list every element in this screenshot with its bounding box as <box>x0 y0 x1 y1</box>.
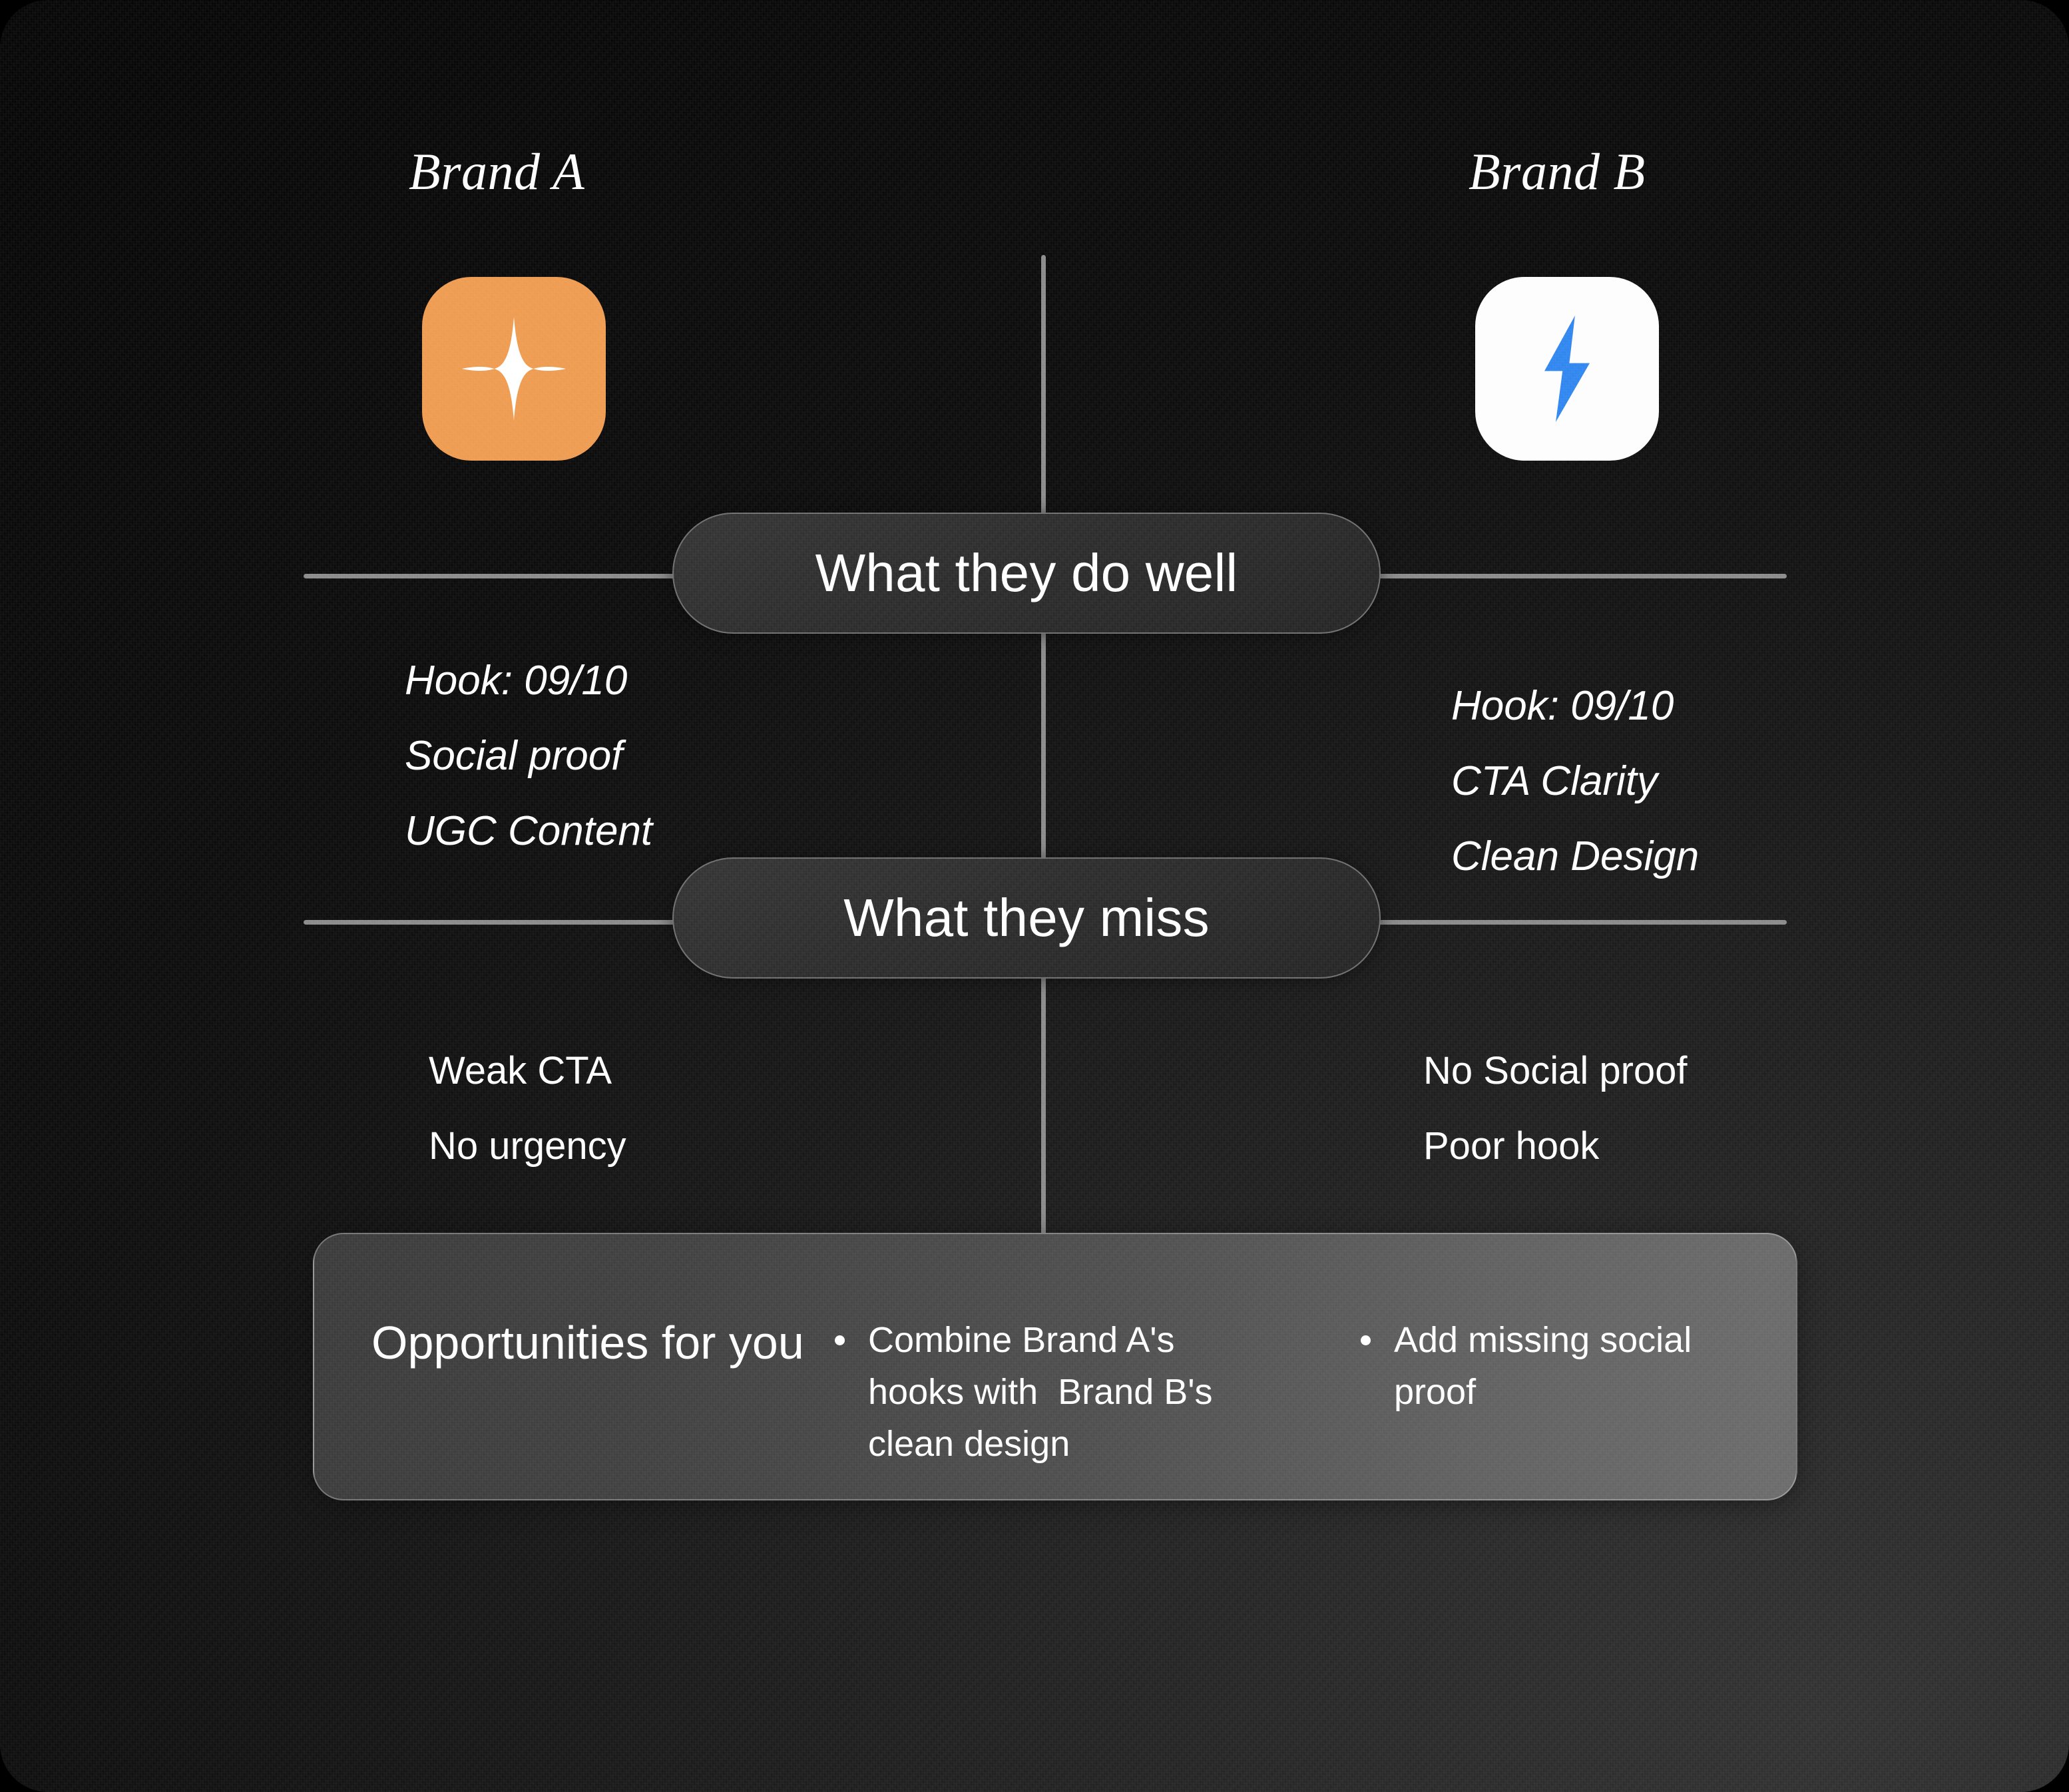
list-item: Hook: 09/10 <box>1451 668 1699 744</box>
list-item: Weak CTA <box>429 1033 626 1108</box>
list-item: CTA Clarity <box>1451 744 1699 819</box>
opportunities-heading: Opportunities for you <box>314 1314 820 1371</box>
strengths-list-brand-b: Hook: 09/10 CTA Clarity Clean Design <box>1451 668 1699 894</box>
section-pill-miss: What they miss <box>672 857 1381 979</box>
section-pill-do-well: What they do well <box>672 513 1381 634</box>
list-item: Hook: 09/10 <box>405 643 652 718</box>
list-item: Poor hook <box>1423 1108 1688 1184</box>
brand-a-title: Brand A <box>409 142 584 202</box>
opportunities-card: Opportunities for you Combine Brand A's … <box>313 1233 1797 1500</box>
strengths-list-brand-a: Hook: 09/10 Social proof UGC Content <box>405 643 652 869</box>
brand-b-title: Brand B <box>1469 142 1646 202</box>
list-item: Clean Design <box>1451 819 1699 894</box>
section-pill-miss-label: What they miss <box>843 887 1210 949</box>
list-item: Social proof <box>405 718 652 793</box>
comparison-infographic-canvas: Brand A Brand B What they do well What t… <box>0 0 2069 1792</box>
lightning-bolt-icon <box>1475 277 1659 461</box>
opportunities-column-2: Add missing social proof <box>1355 1314 1728 1418</box>
list-item: Add missing social proof <box>1355 1314 1728 1418</box>
section-pill-do-well-label: What they do well <box>815 543 1238 604</box>
list-item: No Social proof <box>1423 1033 1688 1108</box>
list-item: Combine Brand A's hooks with Brand B's c… <box>829 1314 1256 1470</box>
weaknesses-list-brand-b: No Social proof Poor hook <box>1423 1033 1688 1184</box>
list-item: No urgency <box>429 1108 626 1184</box>
opportunities-column-1: Combine Brand A's hooks with Brand B's c… <box>829 1314 1256 1470</box>
vertical-divider <box>1041 255 1046 1249</box>
list-item: UGC Content <box>405 793 652 869</box>
weaknesses-list-brand-a: Weak CTA No urgency <box>429 1033 626 1184</box>
sparkle-icon <box>422 277 606 461</box>
